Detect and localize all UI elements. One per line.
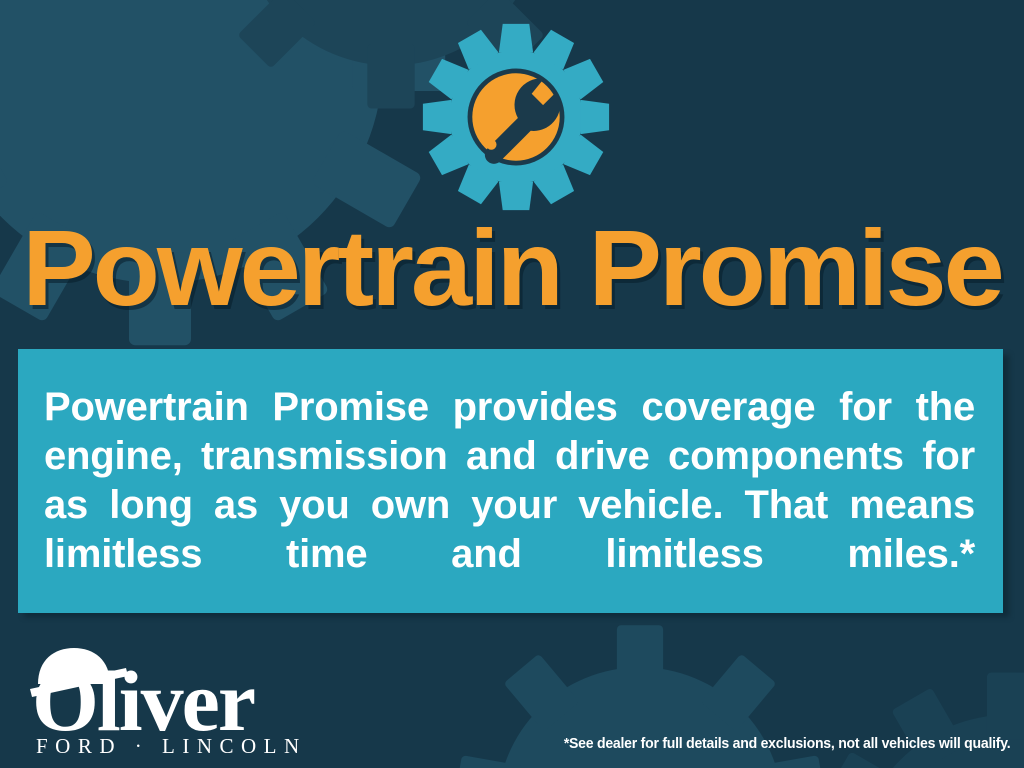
gear-wrench-icon — [421, 22, 611, 212]
description-paragraph: Powertrain Promise provides coverage for… — [44, 385, 975, 576]
description-panel: Powertrain Promise provides coverage for… — [18, 349, 1003, 613]
description-text: Powertrain Promise provides coverage for… — [44, 383, 975, 628]
asterisk-marker: * — [960, 532, 975, 576]
logo-subtitle: FORD · LINCOLN — [36, 734, 307, 758]
disclaimer-text: *See dealer for full details and exclusi… — [563, 736, 1010, 752]
powertrain-promise-poster: Powertrain Promise Powertrain Promise pr… — [0, 0, 1024, 768]
oliver-ford-lincoln-logo: Oliver FORD · LINCOLN — [26, 642, 326, 758]
page-title: Powertrain Promise — [0, 214, 1024, 322]
